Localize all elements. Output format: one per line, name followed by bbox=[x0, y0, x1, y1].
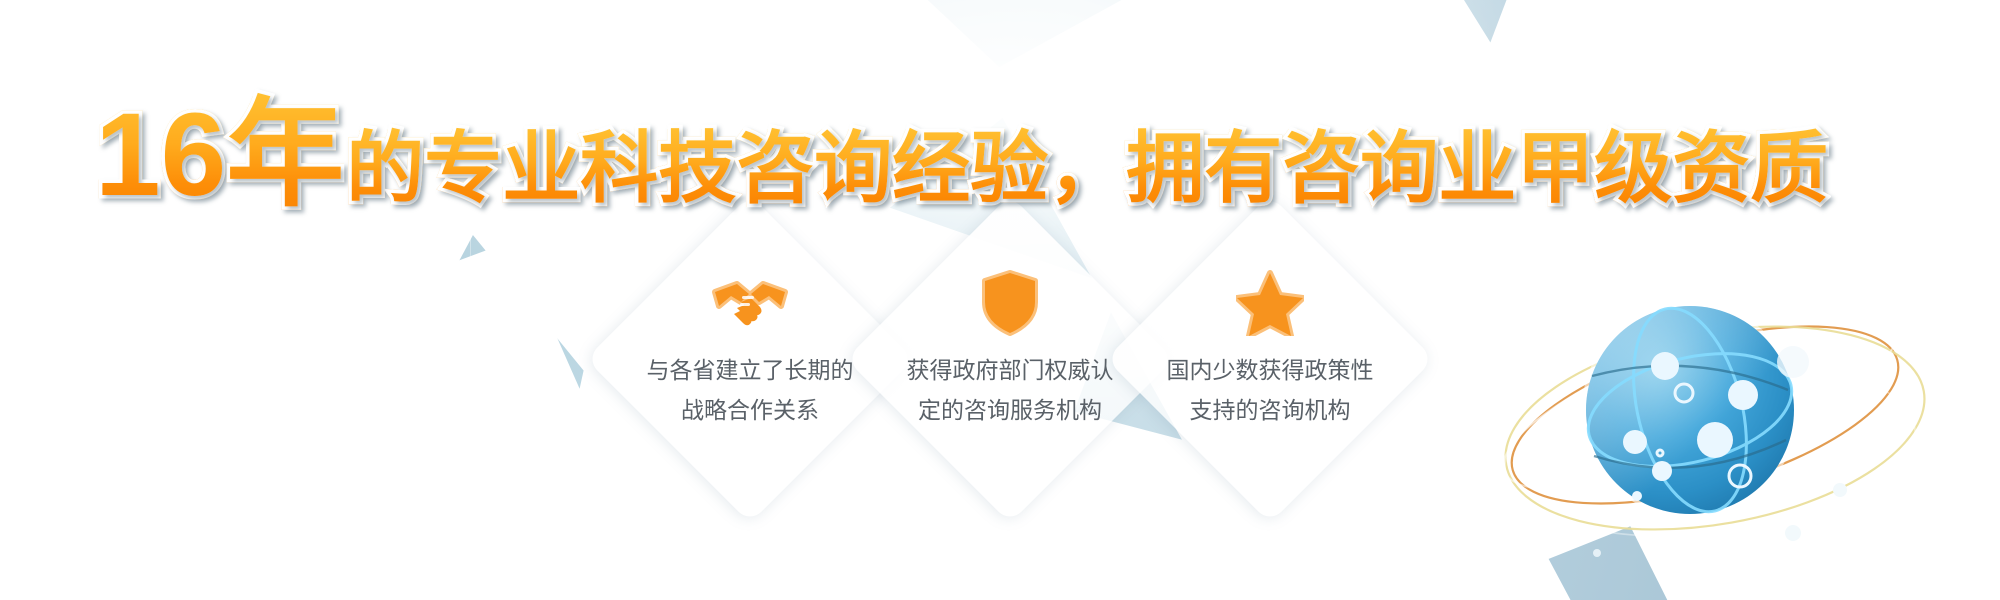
headline-rest-text: 的专业科技咨询经验，拥有咨询业甲级资质 bbox=[346, 124, 1828, 212]
handshake-icon bbox=[711, 271, 789, 335]
headline-highlight-text: 16年 bbox=[95, 89, 344, 221]
feature-card-1-line1: 与各省建立了长期的 bbox=[647, 351, 854, 391]
feature-card-3-line1: 国内少数获得政策性 bbox=[1167, 351, 1374, 391]
feature-card-1-line2: 战略合作关系 bbox=[647, 391, 854, 431]
promo-banner: 16年 16年 的专业科技咨询经验，拥有咨询业甲级资质 的专业科技咨询经验，拥有… bbox=[0, 0, 2000, 600]
headline-highlight: 16年 16年 bbox=[95, 96, 344, 214]
headline-rest: 的专业科技咨询经验，拥有咨询业甲级资质 的专业科技咨询经验，拥有咨询业甲级资质 bbox=[344, 129, 1828, 207]
headline: 16年 16年 的专业科技咨询经验，拥有咨询业甲级资质 的专业科技咨询经验，拥有… bbox=[95, 96, 1828, 214]
shield-icon bbox=[980, 271, 1040, 335]
feature-card-2-line1: 获得政府部门权威认 bbox=[907, 351, 1114, 391]
feature-card-3-line2: 支持的咨询机构 bbox=[1167, 391, 1374, 431]
feature-card-3[interactable]: 国内少数获得政策性 支持的咨询机构 bbox=[1105, 243, 1435, 573]
feature-card-2-line2: 定的咨询服务机构 bbox=[907, 391, 1114, 431]
star-icon bbox=[1236, 271, 1304, 335]
